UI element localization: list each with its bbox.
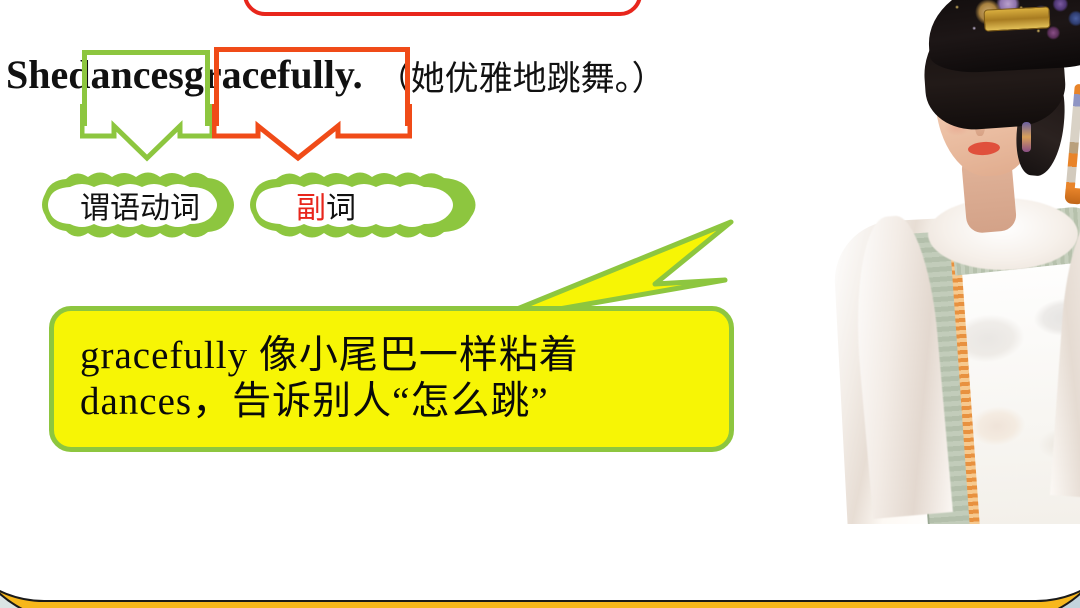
photo-gold-plaque xyxy=(983,6,1050,31)
verb-label-cloud: 谓语动词 xyxy=(42,169,238,241)
slide-card: 动词到哪，副词跟到哪！ She dances gracefully. （她优雅地… xyxy=(0,0,1080,602)
sentence-translation: （她优雅地跳舞。） xyxy=(377,51,666,100)
rule-callout-box: 动词到哪，副词跟到哪！ xyxy=(243,0,642,16)
explanation-callout-body: gracefully 像小尾巴一样粘着 dances，告诉别人“怎么跳” xyxy=(49,306,734,452)
slide-background: 动词到哪，副词跟到哪！ She dances gracefully. （她优雅地… xyxy=(0,0,1080,608)
decorative-frame-ring: 动词到哪，副词跟到哪！ She dances gracefully. （她优雅地… xyxy=(0,0,1080,608)
photo-earring xyxy=(1022,122,1031,152)
verb-label-text: 谓语动词 xyxy=(80,183,200,227)
explanation-line-2: dances，告诉别人“怎么跳” xyxy=(80,379,703,425)
explanation-callout: gracefully 像小尾巴一样粘着 dances，告诉别人“怎么跳” xyxy=(49,306,734,452)
sentence-subject: She xyxy=(6,55,68,95)
costume-photo xyxy=(832,0,1080,524)
verb-label-text-wrap: 谓语动词 xyxy=(42,169,238,241)
adverb-label-text-black: 词 xyxy=(326,183,356,227)
adverb-label-text-red: 副 xyxy=(296,183,326,227)
explanation-line-1: gracefully 像小尾巴一样粘着 xyxy=(80,333,703,379)
adverb-label-cloud: 副词 xyxy=(250,169,482,241)
photo-tassel-bead xyxy=(1064,187,1080,205)
adverb-label-text-wrap: 副词 xyxy=(250,169,482,241)
